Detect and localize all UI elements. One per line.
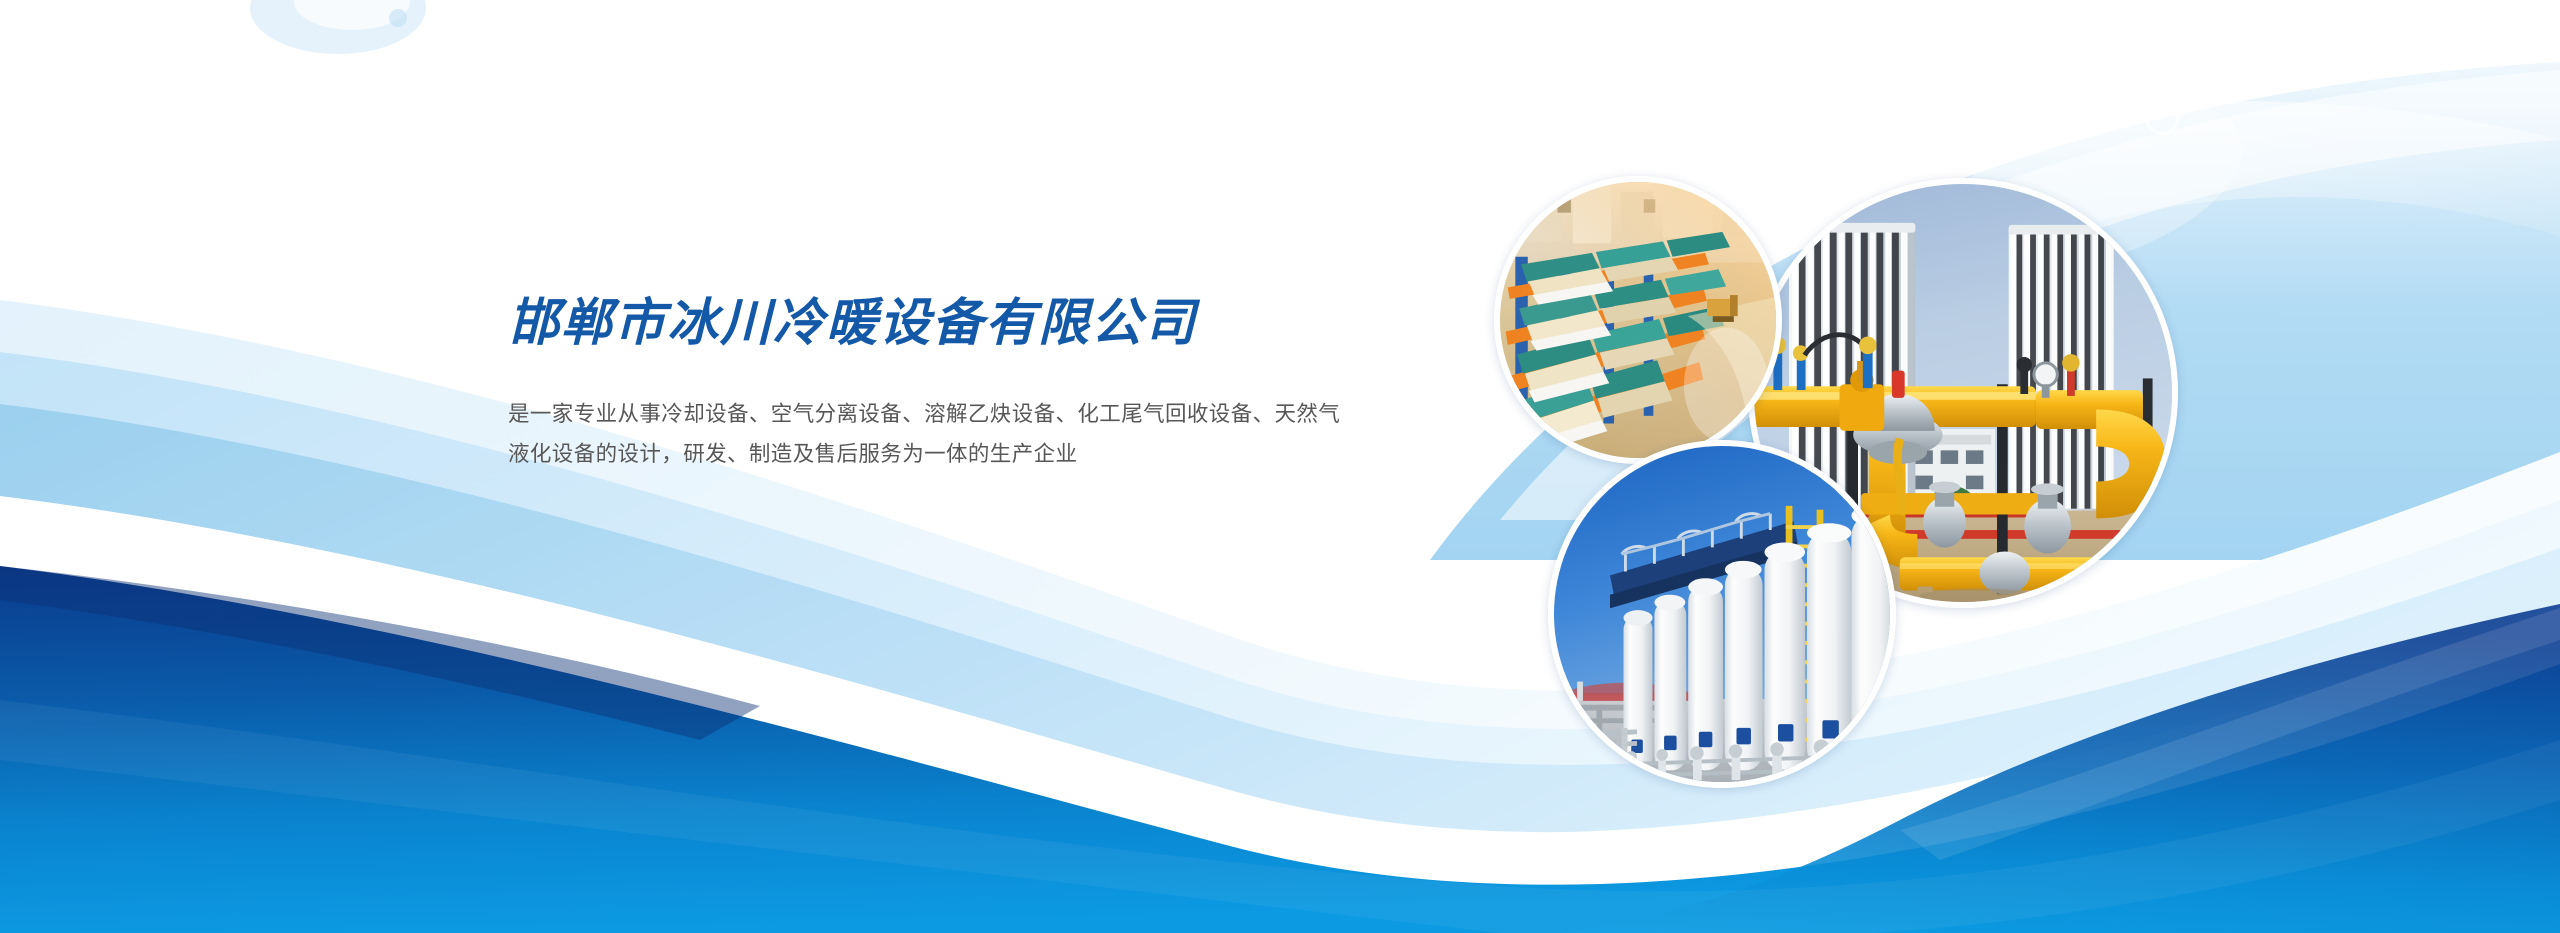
hero-text-block: 邯郸市冰川冷暖设备有限公司 是一家专业从事冷却设备、空气分离设备、溶解乙炔设备、…: [508, 296, 1488, 474]
tagline-line-1: 是一家专业从事冷却设备、空气分离设备、溶解乙炔设备、化工尾气回收设备、天然气: [508, 394, 1468, 434]
warehouse-racking-illustration: [1500, 182, 1776, 458]
photo-circle-warehouse: [1494, 176, 1782, 464]
tagline-line-2: 液化设备的设计，研发、制造及售后服务为一体的生产企业: [508, 434, 1468, 474]
company-hero-banner: 邯郸市冰川冷暖设备有限公司 是一家专业从事冷却设备、空气分离设备、溶解乙炔设备、…: [0, 0, 2560, 933]
page-title: 邯郸市冰川冷暖设备有限公司: [508, 296, 1488, 350]
photo-circle-cryogenic-tanks: [1548, 440, 1896, 788]
company-tagline: 是一家专业从事冷却设备、空气分离设备、溶解乙炔设备、化工尾气回收设备、天然气 液…: [508, 394, 1468, 474]
cryogenic-storage-tanks-illustration: [1554, 446, 1890, 782]
